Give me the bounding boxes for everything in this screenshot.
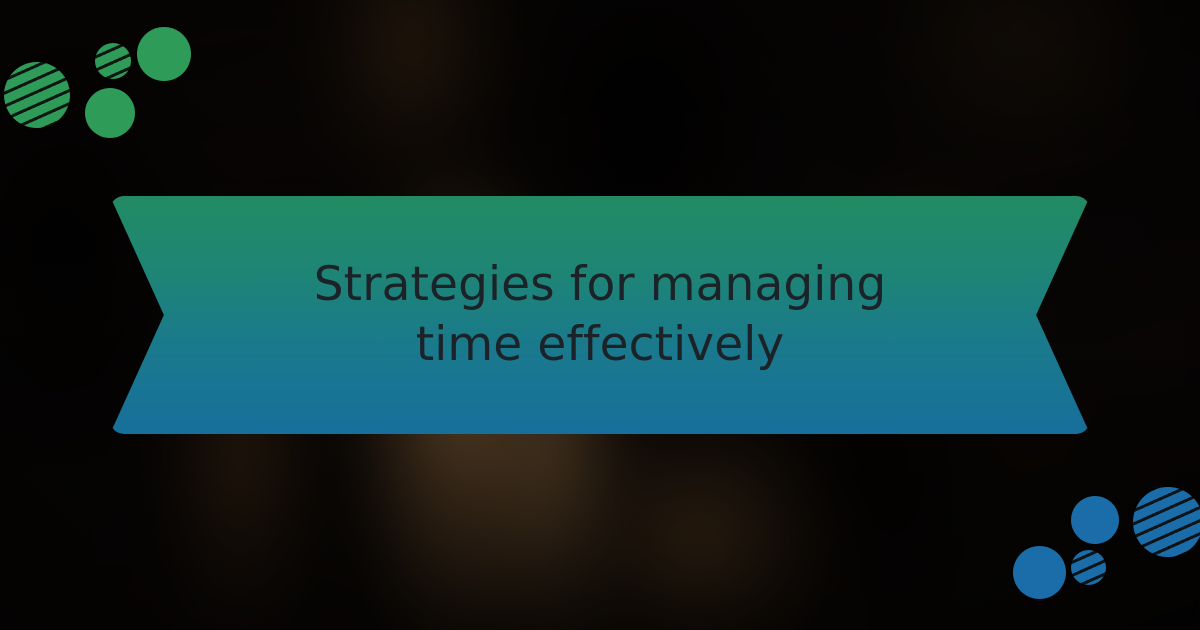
- banner-title: Strategies for managing time effectively: [314, 255, 887, 375]
- large-striped-circle: [1133, 487, 1200, 557]
- title-ribbon: Strategies for managing time effectively: [110, 196, 1090, 434]
- banner-canvas: Strategies for managing time effectively: [0, 0, 1200, 630]
- large-plain-circle: [1013, 546, 1066, 599]
- small-striped-circle: [1071, 550, 1106, 585]
- medium-plain-circle: [1071, 496, 1119, 544]
